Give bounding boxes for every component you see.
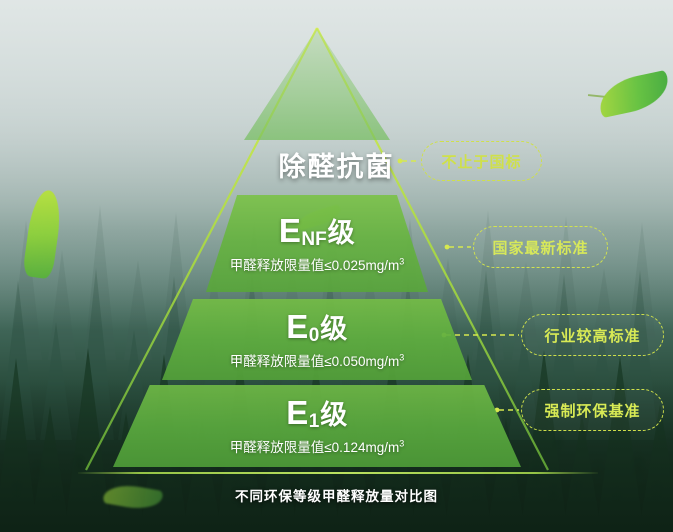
tier-e1-grade: E1级 — [230, 396, 404, 429]
pyramid-tier-enf: ENF级 甲醛释放限量值≤0.025mg/m3 — [206, 195, 428, 292]
tier-e0-limit-text: 甲醛释放限量值≤0.050mg/m — [230, 354, 399, 369]
figure-caption: 不同环保等级甲醛释放量对比图 — [0, 485, 673, 505]
tier-e1-grade-sub: 1 — [309, 411, 320, 432]
tier-enf-grade-prefix: E — [279, 212, 302, 249]
tier-e1-limit-text: 甲醛释放限量值≤0.124mg/m — [230, 440, 399, 455]
tier-enf-grade-suffix: 级 — [328, 218, 356, 248]
badge-not-limited-to-national-standard: 不止于国标 — [421, 141, 542, 181]
tier-enf-grade-sub: NF — [301, 229, 326, 250]
pyramid-tier-e0: E0级 甲醛释放限量值≤0.050mg/m3 — [162, 299, 472, 380]
tier-e1-grade-prefix: E — [286, 394, 309, 431]
connector-dot-enf — [445, 245, 450, 250]
tier-e0-content: E0级 甲醛释放限量值≤0.050mg/m3 — [230, 310, 404, 370]
tier-e0-grade-prefix: E — [286, 308, 309, 345]
tier-e0-limit-sup: 3 — [399, 352, 404, 362]
tier-apex-shape — [244, 28, 390, 140]
tier-e0-grade: E0级 — [230, 310, 404, 343]
tier-e1-content: E1级 甲醛释放限量值≤0.124mg/m3 — [230, 396, 404, 456]
pyramid-baseline — [78, 472, 598, 474]
badge-mandatory-environmental-baseline: 强制环保基准 — [521, 389, 664, 431]
pyramid-tier-apex — [244, 28, 390, 140]
tier-enf-grade: ENF级 — [230, 214, 404, 247]
tier-enf-limit-sup: 3 — [399, 256, 404, 266]
tier-enf-content: ENF级 甲醛释放限量值≤0.025mg/m3 — [230, 214, 404, 274]
tier-enf-limit-text: 甲醛释放限量值≤0.025mg/m — [230, 258, 399, 273]
apex-title-label: 除醛抗菌 — [0, 145, 673, 184]
badge-higher-industry-standard: 行业较高标准 — [521, 314, 664, 356]
tier-enf-limit: 甲醛释放限量值≤0.025mg/m3 — [230, 254, 404, 274]
tier-e0-grade-sub: 0 — [309, 325, 320, 346]
infographic-canvas: 除醛抗菌 ENF级 甲醛释放限量值≤0.025mg/m3 E0级 甲醛释放限量值… — [0, 0, 673, 532]
tier-e0-grade-suffix: 级 — [320, 314, 348, 344]
pyramid-tier-e1: E1级 甲醛释放限量值≤0.124mg/m3 — [113, 385, 521, 467]
tier-e1-limit: 甲醛释放限量值≤0.124mg/m3 — [230, 436, 404, 456]
tier-e1-grade-suffix: 级 — [320, 400, 348, 430]
tier-e1-limit-sup: 3 — [399, 439, 404, 449]
tier-e0-limit: 甲醛释放限量值≤0.050mg/m3 — [230, 350, 404, 370]
badge-latest-national-standard: 国家最新标准 — [473, 226, 608, 268]
